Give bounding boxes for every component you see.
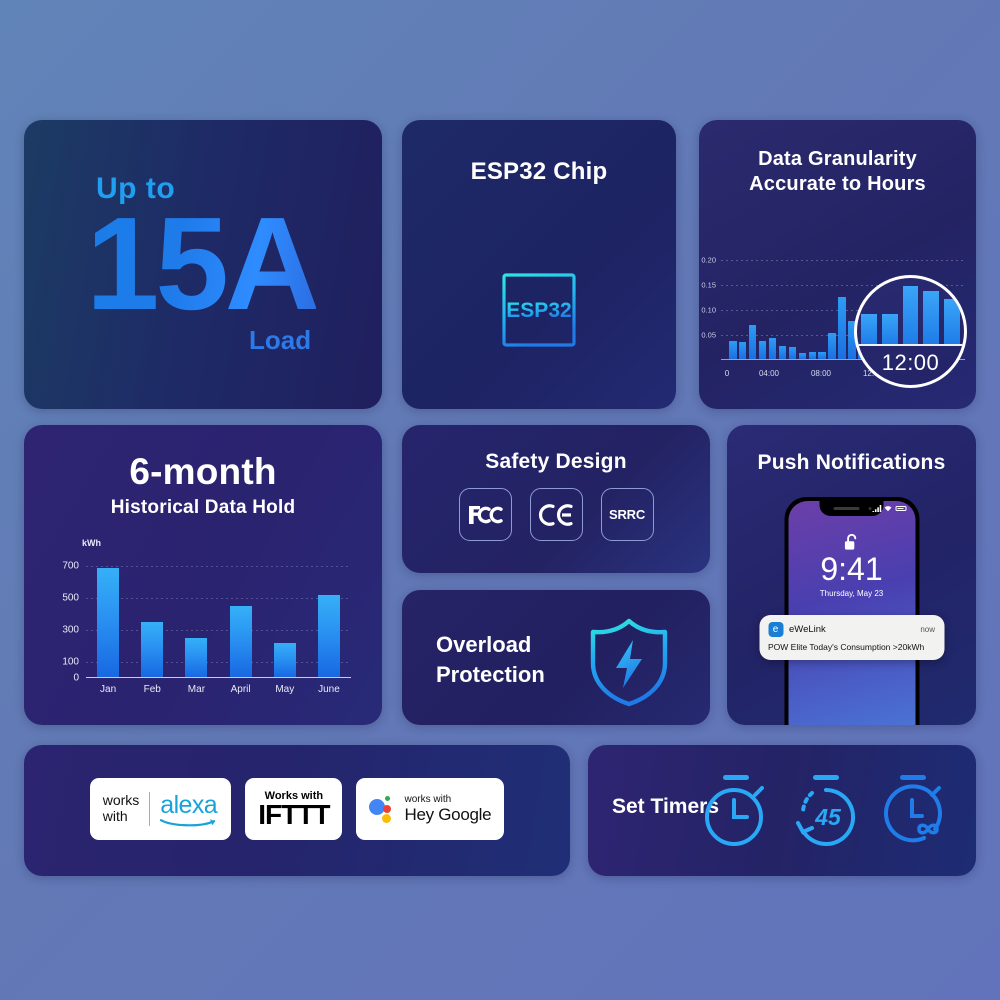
granularity-y-tick: 0.20	[701, 256, 716, 265]
magnifier-bar	[903, 286, 919, 344]
notification-message: POW Elite Today's Consumption >20kWh	[768, 642, 935, 652]
card-overload-protection: Overload Protection	[402, 590, 710, 725]
battery-icon	[895, 506, 906, 512]
granularity-bar	[818, 352, 826, 359]
history-y-tick: 700	[62, 560, 79, 571]
magnifier-bar	[944, 299, 960, 344]
speaker-icon	[834, 507, 860, 510]
notification-banner[interactable]: e eWeLink now POW Elite Today's Consumpt…	[759, 615, 944, 660]
push-title: Push Notifications	[727, 451, 976, 475]
phone-screen: 9:41 Thursday, May 23	[788, 501, 915, 725]
history-x-tick: Feb	[144, 684, 161, 695]
google-text-block: works with Hey Google	[404, 794, 491, 825]
max-load-value: 15A	[86, 198, 316, 330]
srrc-label: SRRC	[609, 507, 645, 522]
stopwatch-icon	[700, 767, 772, 853]
ifttt-wordmark: IFTTT	[258, 802, 329, 829]
wifi-icon	[884, 505, 893, 512]
feature-card-board: Up to 15A Load ESP32 Chip	[24, 120, 976, 876]
granularity-bar	[779, 346, 787, 359]
granularity-bar	[749, 325, 757, 359]
fcc-badge	[459, 488, 512, 541]
status-bar-right	[872, 505, 906, 512]
card-data-granularity: Data Granularity Accurate to Hours 0.050…	[699, 120, 976, 409]
notification-timestamp: now	[920, 625, 935, 634]
granularity-y-tick: 0.05	[701, 331, 716, 340]
alexa-works-with-text: works with	[103, 793, 140, 824]
overload-line2: Protection	[436, 660, 545, 690]
lockscreen-date: Thursday, May 23	[788, 589, 915, 598]
granularity-bar	[799, 353, 807, 359]
history-y-unit: kWh	[82, 538, 101, 548]
works-with-alexa-badge: works with alexa	[90, 778, 232, 840]
granularity-bar	[838, 297, 846, 359]
history-x-tick: June	[318, 684, 340, 695]
history-x-tick: Mar	[188, 684, 205, 695]
overload-text: Overload Protection	[436, 630, 545, 689]
granularity-bar	[759, 341, 767, 359]
granularity-bar	[809, 352, 817, 359]
history-y-tick: 0	[73, 673, 79, 684]
granularity-title-line2: Accurate to Hours	[699, 173, 976, 196]
history-y-tick: 300	[62, 624, 79, 635]
magnifier-bar	[882, 314, 898, 344]
granularity-bar	[828, 333, 836, 359]
magnifier-bar	[861, 314, 877, 344]
card-safety-design: Safety Design SRRC	[402, 425, 710, 573]
safety-title: Safety Design	[402, 450, 710, 474]
alexa-logo: alexa	[160, 791, 218, 827]
timer-icon-row: 45	[700, 767, 952, 853]
infinite-timer-icon	[880, 767, 952, 853]
chip-icon: ESP32	[479, 250, 599, 375]
granularity-bar	[729, 341, 737, 359]
granularity-x-tick: 04:00	[759, 369, 779, 378]
history-x-tick: April	[231, 684, 251, 695]
works-with-google-badge: works with Hey Google	[356, 778, 504, 840]
lockscreen-time: 9:41	[788, 551, 915, 588]
history-bar	[230, 606, 252, 677]
history-bar	[97, 568, 119, 676]
granularity-bar	[769, 338, 777, 359]
history-bar-group: Feb	[130, 622, 174, 676]
esp32-title: ESP32 Chip	[402, 158, 676, 186]
history-bars: JanFebMarAprilMayJune	[86, 552, 351, 677]
signal-icon	[872, 505, 881, 512]
card-set-timers: Set Timers 45	[588, 745, 976, 876]
shield-bolt-icon	[586, 616, 672, 713]
granularity-magnifier: 12:00	[854, 275, 967, 388]
magnifier-baseline	[857, 344, 964, 346]
history-bar	[318, 595, 340, 677]
history-y-tick: 100	[62, 656, 79, 667]
history-bar	[141, 622, 163, 676]
magnifier-bar	[923, 291, 939, 344]
ce-badge	[530, 488, 583, 541]
granularity-title-line1: Data Granularity	[699, 148, 976, 171]
notification-header: e eWeLink now	[768, 622, 935, 637]
works-with-ifttt-badge: Works with IFTTT	[245, 778, 342, 840]
phone-mockup: 9:41 Thursday, May 23 e eWeLink now POW …	[784, 497, 919, 725]
card-esp32-chip: ESP32 Chip	[402, 120, 676, 409]
history-bar-group: June	[307, 595, 351, 677]
google-wordmark: Hey Google	[404, 805, 491, 825]
granularity-bar	[789, 347, 797, 359]
countdown-timer-icon: 45	[790, 767, 862, 853]
history-bar-group: Mar	[174, 638, 218, 676]
magnifier-time-label: 12:00	[857, 350, 964, 376]
alexa-wordmark: alexa	[160, 791, 218, 820]
max-load-suffix: Load	[249, 325, 311, 356]
history-bar-group: April	[219, 606, 263, 677]
alexa-works-line1: works	[103, 793, 140, 809]
srrc-badge: SRRC	[601, 488, 654, 541]
alexa-divider	[149, 792, 150, 826]
granularity-x-tick: 08:00	[811, 369, 831, 378]
google-works-with-text: works with	[404, 794, 491, 805]
google-assistant-icon	[369, 796, 395, 822]
granularity-bar	[739, 342, 747, 359]
history-bar	[185, 638, 207, 676]
countdown-value: 45	[814, 804, 842, 830]
overload-line1: Overload	[436, 630, 545, 660]
svg-text:ESP32: ESP32	[506, 299, 571, 322]
card-push-notifications: Push Notifications 9:41	[727, 425, 976, 725]
granularity-x-tick: 0	[725, 369, 729, 378]
ecosystem-badge-row: works with alexa Works with IFTTT	[24, 778, 570, 840]
notification-app-name: eWeLink	[789, 624, 914, 635]
card-max-load: Up to 15A Load	[24, 120, 382, 409]
history-chart: 0100300500700 JanFebMarAprilMayJune	[86, 553, 351, 678]
history-x-tick: May	[275, 684, 294, 695]
history-bar	[274, 643, 296, 677]
history-title: 6-month	[24, 451, 382, 493]
ewelink-app-icon: e	[768, 622, 783, 637]
certification-row: SRRC	[402, 488, 710, 541]
history-subtitle: Historical Data Hold	[24, 497, 382, 519]
granularity-y-tick: 0.10	[701, 306, 716, 315]
magnifier-bars	[861, 282, 960, 344]
history-bar-group: May	[263, 643, 307, 677]
card-historical-data: 6-month Historical Data Hold kWh 0100300…	[24, 425, 382, 725]
history-bar-group: Jan	[86, 568, 130, 676]
card-ecosystem-compatibility: works with alexa Works with IFTTT	[24, 745, 570, 876]
alexa-works-line2: with	[103, 809, 140, 825]
granularity-y-tick: 0.15	[701, 281, 716, 290]
history-x-axis	[86, 677, 351, 678]
history-y-tick: 500	[62, 592, 79, 603]
history-x-tick: Jan	[100, 684, 116, 695]
